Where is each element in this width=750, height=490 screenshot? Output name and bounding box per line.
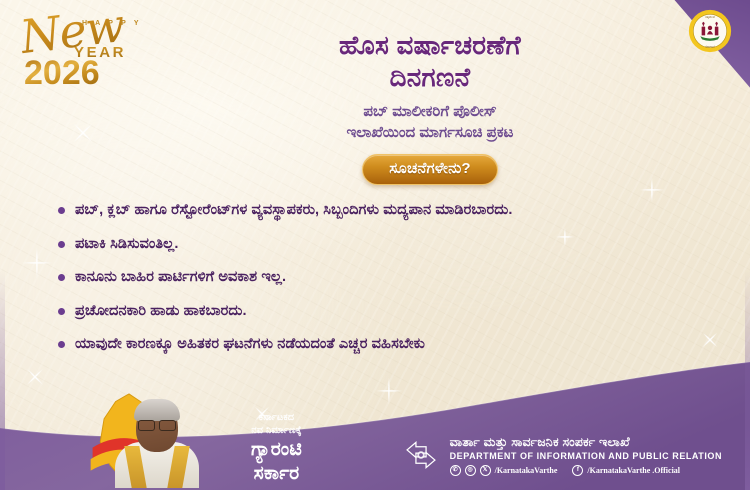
svg-text:ಸತ್ಯಮೇವ: ಸತ್ಯಮೇವ [705, 15, 715, 19]
social-handle-primary[interactable]: /KarnatakaVarthe [495, 466, 558, 476]
department-footer: ವಾರ್ತಾ ಮತ್ತು ಸಾರ್ವಜನಿಕ ಸಂಪರ್ಕ ಇಲಾಖೆ DEPA… [402, 435, 722, 476]
new-year-happy-text: H A P P Y [82, 20, 142, 27]
social-handles: ✆ ◎ 𝕏 /KarnatakaVarthe f /KarnatakaVarth… [450, 465, 722, 476]
bullet-dot-icon [58, 274, 65, 281]
new-year-year-number: 2026 [24, 54, 100, 93]
bullet-dot-icon [58, 308, 65, 315]
list-item: ಕಾನೂನು ಬಾಹಿರ ಪಾರ್ಟಿಗಳಿಗೆ ಅವಕಾಶ ಇಲ್ಲ. [58, 267, 704, 288]
leader-photo [114, 390, 200, 488]
headline-line-1: ಹೊಸ ವರ್ಷಾಚರಣೆಗೆ [170, 30, 690, 62]
facebook-icon[interactable]: f [572, 465, 583, 476]
bullet-dot-icon [58, 341, 65, 348]
list-item: ಪಟಾಕಿ ಸಿಡಿಸುವಂತಿಲ್ಲ. [58, 234, 704, 255]
department-name-kannada: ವಾರ್ತಾ ಮತ್ತು ಸಾರ್ವಜನಿಕ ಸಂಪರ್ಕ ಇಲಾಖೆ [450, 435, 722, 450]
guarantee-big-2: ಸರ್ಕಾರ [204, 463, 349, 484]
department-name-english: DEPARTMENT OF INFORMATION AND PUBLIC REL… [450, 451, 722, 462]
instructions-heading-pill: ಸೂಚನೆಗಳೇನು? [362, 154, 498, 185]
bullet-dot-icon [58, 207, 65, 214]
instagram-icon[interactable]: ◎ [465, 465, 476, 476]
new-year-logo: New H A P P Y YEAR 2026 [18, 6, 148, 84]
right-edge-strip [745, 0, 750, 490]
twitter-icon[interactable]: 𝕏 [480, 465, 491, 476]
page-title: ಹೊಸ ವರ್ಷಾಚರಣೆಗೆ ದಿನಗಣನೆ [170, 30, 690, 93]
list-item-text: ಪಟಾಕಿ ಸಿಡಿಸುವಂತಿಲ್ಲ. [75, 234, 179, 255]
subhead-line-1: ಪಬ್ ಮಾಲೀಕರಿಗೆ ಪೊಲೀಸ್ [170, 102, 690, 123]
subhead-line-2: ಇಲಾಖೆಯಿಂದ ಮಾರ್ಗಸೂಚಿ ಪ್ರಕಟ [170, 123, 690, 144]
list-item-text: ಕಾನೂನು ಬಾಹಿರ ಪಾರ್ಟಿಗಳಿಗೆ ಅವಕಾಶ ಇಲ್ಲ. [75, 267, 286, 288]
list-item-text: ಪಬ್, ಕ್ಲಬ್ ಹಾಗೂ ರೆಸ್ಟೋರೆಂಟ್‌ಗಳ ವ್ಯವಸ್ಥಾಪ… [75, 200, 513, 221]
list-item: ಪ್ರಚೋದನಕಾರಿ ಹಾಡು ಹಾಕಬಾರದು. [58, 301, 704, 322]
list-item: ಯಾವುದೇ ಕಾರಣಕ್ಕೂ ಅಹಿತಕರ ಘಟನೆಗಳು ನಡೆಯದಂತೆ … [58, 334, 704, 355]
whatsapp-icon[interactable]: ✆ [450, 465, 461, 476]
bullet-dot-icon [58, 241, 65, 248]
left-edge-strip [0, 0, 5, 490]
poster-root: New H A P P Y YEAR 2026 ಸತ್ಯಮೇವ ಕರ್ನಾಟಕ [0, 0, 750, 490]
dipr-logo-icon [402, 436, 440, 474]
instructions-list: ಪಬ್, ಕ್ಲಬ್ ಹಾಗೂ ರೆಸ್ಟೋರೆಂಟ್‌ಗಳ ವ್ಯವಸ್ಥಾಪ… [58, 200, 704, 368]
guarantee-big-1: ಗ್ಯಾರಂಟಿ [204, 439, 349, 460]
guarantee-government-block: ಕರ್ನಾಟಕದ ನವ ನಿರ್ಮಾಣಕ್ಕೆ ಗ್ಯಾರಂಟಿ ಸರ್ಕಾರ [62, 388, 347, 488]
guarantee-text: ಕರ್ನಾಟಕದ ನವ ನಿರ್ಮಾಣಕ್ಕೆ ಗ್ಯಾರಂಟಿ ಸರ್ಕಾರ [204, 412, 349, 484]
leader-glasses-icon [138, 420, 176, 429]
svg-text:ಕರ್ನಾಟಕ: ಕರ್ನಾಟಕ [705, 45, 715, 49]
page-subtitle: ಪಬ್ ಮಾಲೀಕರಿಗೆ ಪೊಲೀಸ್ ಇಲಾಖೆಯಿಂದ ಮಾರ್ಗಸೂಚಿ… [170, 102, 690, 143]
department-text: ವಾರ್ತಾ ಮತ್ತು ಸಾರ್ವಜನಿಕ ಸಂಪರ್ಕ ಇಲಾಖೆ DEPA… [450, 435, 722, 476]
list-item-text: ಯಾವುದೇ ಕಾರಣಕ್ಕೂ ಅಹಿತಕರ ಘಟನೆಗಳು ನಡೆಯದಂತೆ … [75, 334, 425, 355]
headline-line-2: ದಿನಗಣನೆ [170, 62, 690, 94]
social-handle-secondary[interactable]: /KarnatakaVarthe .Official [587, 466, 680, 476]
guarantee-line-2: ನವ ನಿರ್ಮಾಣಕ್ಕೆ [204, 425, 349, 438]
list-item: ಪಬ್, ಕ್ಲಬ್ ಹಾಗೂ ರೆಸ್ಟೋರೆಂಟ್‌ಗಳ ವ್ಯವಸ್ಥಾಪ… [58, 200, 704, 221]
leader-hair [134, 399, 180, 421]
section-heading-pill-wrap: ಸೂಚನೆಗಳೇನು? [170, 154, 690, 185]
karnataka-state-emblem-icon: ಸತ್ಯಮೇವ ಕರ್ನಾಟಕ [688, 9, 732, 53]
list-item-text: ಪ್ರಚೋದನಕಾರಿ ಹಾಡು ಹಾಕಬಾರದು. [75, 301, 247, 322]
guarantee-line-1: ಕರ್ನಾಟಕದ [204, 412, 349, 425]
